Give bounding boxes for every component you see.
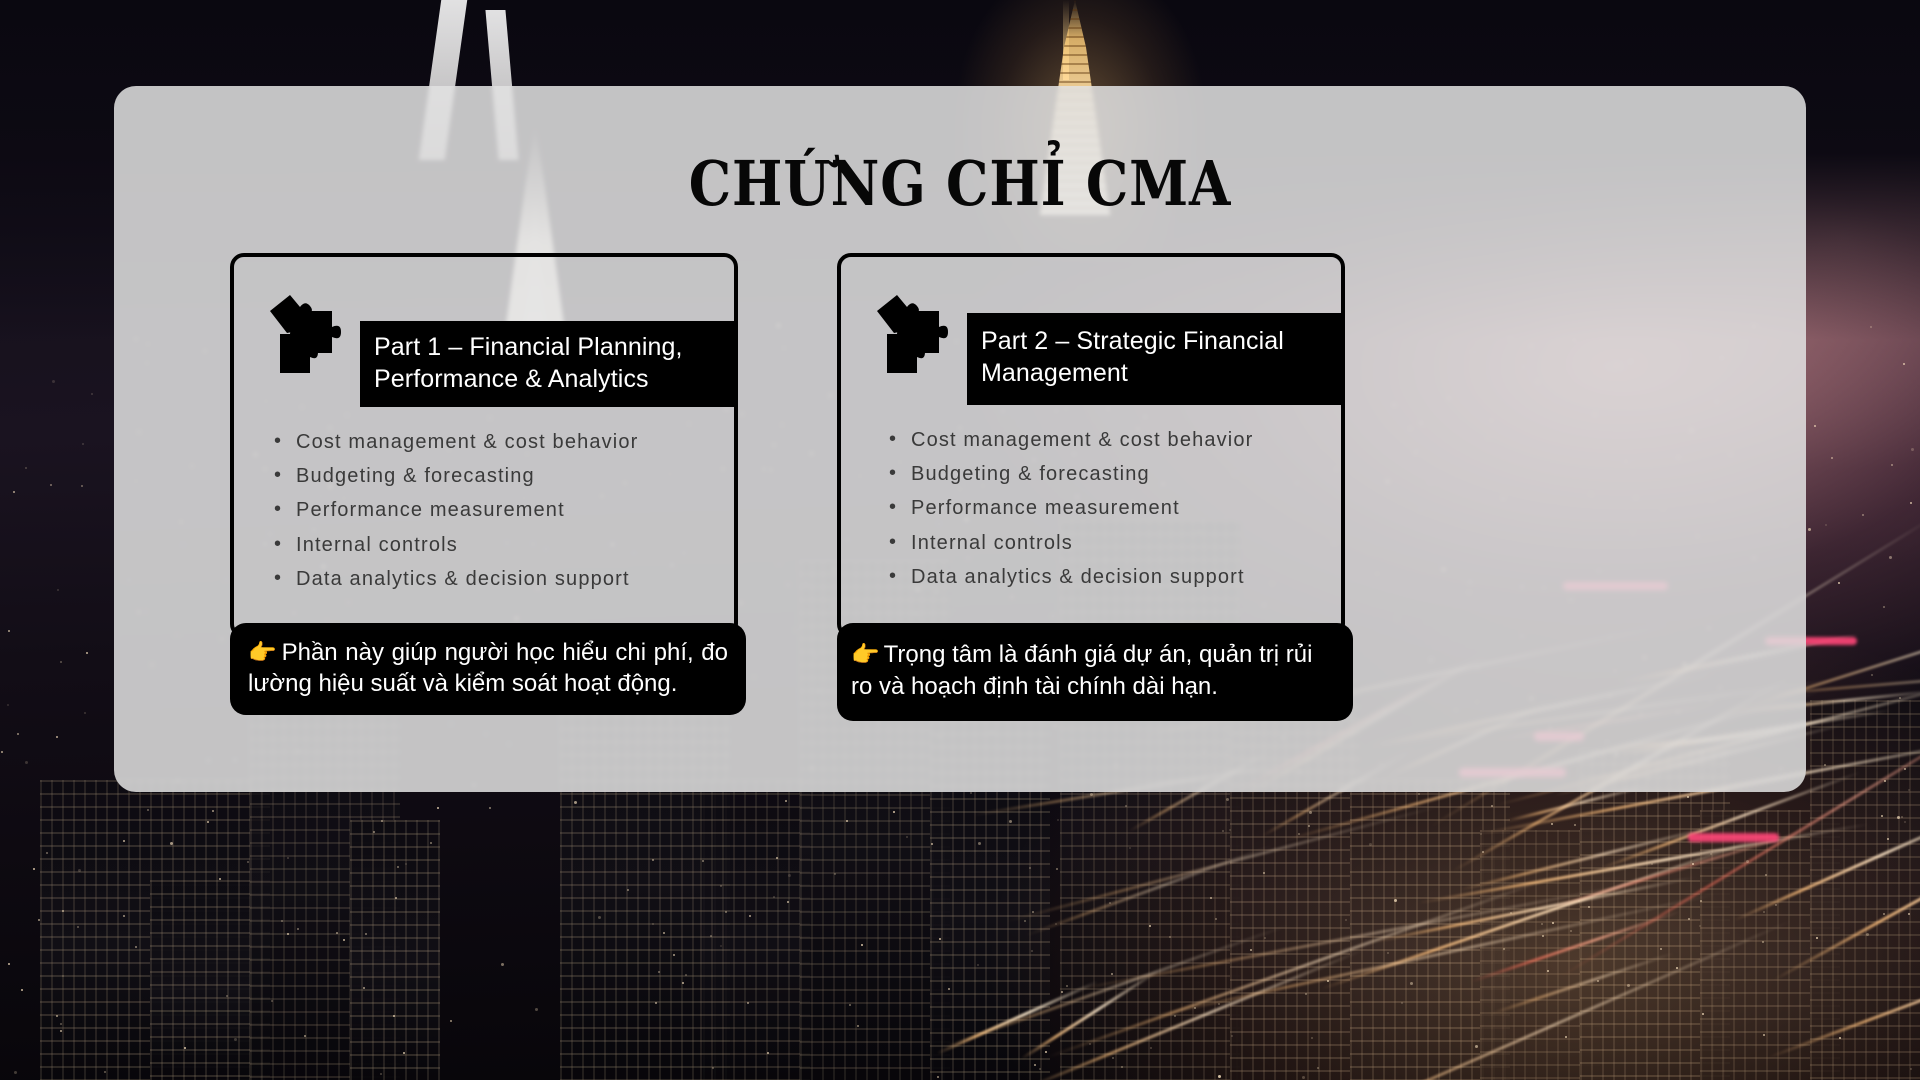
window-light <box>1121 1066 1123 1068</box>
list-item: Internal controls <box>268 532 734 559</box>
window-light <box>184 1047 186 1049</box>
window-light <box>8 630 10 632</box>
window-light <box>652 923 654 925</box>
window-light <box>123 915 125 917</box>
window-light <box>207 821 209 823</box>
window-light <box>1765 874 1767 876</box>
window-light <box>788 874 791 877</box>
window-light <box>1762 941 1764 943</box>
window-light <box>1578 900 1580 902</box>
card-2-header: Part 2 – Strategic Financial Management <box>841 257 1341 405</box>
window-light <box>1839 1037 1841 1039</box>
window-light <box>1903 363 1905 365</box>
window-light <box>1881 815 1883 817</box>
window-light <box>1676 967 1678 969</box>
window-light <box>1129 847 1131 849</box>
window-light <box>1627 984 1630 987</box>
window-light <box>1692 863 1694 865</box>
window-light <box>1317 1067 1319 1069</box>
window-light <box>1222 830 1224 832</box>
window-light <box>1 751 3 753</box>
window-light <box>1687 796 1689 798</box>
window-light <box>1660 948 1662 950</box>
window-light <box>747 1002 749 1004</box>
window-light <box>1552 922 1554 924</box>
window-light <box>1570 930 1572 932</box>
card-1-header: Part 1 – Financial Planning, Performance… <box>234 257 734 407</box>
window-light <box>403 1052 405 1054</box>
window-light <box>38 919 40 921</box>
list-item: Performance measurement <box>268 497 734 524</box>
card-2-heading: Part 2 – Strategic Financial Management <box>967 313 1341 405</box>
window-light <box>1866 933 1869 936</box>
window-light <box>1699 925 1701 927</box>
window-light <box>1824 764 1826 766</box>
window-light <box>14 1071 17 1074</box>
window-light <box>86 652 88 654</box>
window-light <box>849 1004 851 1006</box>
window-light <box>1263 872 1265 874</box>
window-light <box>1418 793 1420 795</box>
card-1-heading: Part 1 – Financial Planning, Performance… <box>360 321 734 407</box>
window-light <box>381 820 383 822</box>
window-light <box>56 736 58 738</box>
list-item: Data analytics & decision support <box>883 564 1341 591</box>
window-light <box>1862 514 1864 516</box>
window-light <box>1651 863 1653 865</box>
list-item: Budgeting & forecasting <box>268 463 734 490</box>
window-light <box>1871 674 1873 676</box>
window-light <box>234 1038 237 1041</box>
window-light <box>1897 816 1900 819</box>
window-light <box>52 380 55 383</box>
window-light <box>1302 1076 1305 1079</box>
window-light <box>785 800 787 802</box>
window-light <box>1816 937 1818 939</box>
window-light <box>1763 1034 1765 1036</box>
window-light <box>1410 982 1413 985</box>
list-item: Internal controls <box>883 530 1341 557</box>
window-light <box>1111 973 1113 975</box>
window-light <box>710 935 712 937</box>
window-light <box>397 866 399 868</box>
window-light <box>1090 793 1093 796</box>
window-light <box>91 393 93 395</box>
window-light <box>373 831 375 833</box>
window-light <box>1218 1075 1221 1078</box>
card-part-2[interactable]: Part 2 – Strategic Financial Management … <box>837 253 1345 638</box>
window-light <box>702 860 704 862</box>
window-light <box>1887 838 1889 840</box>
window-light <box>1250 949 1252 951</box>
window-light <box>82 443 84 445</box>
window-light <box>1174 1015 1176 1017</box>
window-light <box>1149 925 1151 927</box>
card-1-bullet-list: Cost management & cost behavior Budgetin… <box>268 429 734 593</box>
window-light <box>598 916 601 919</box>
window-light <box>287 857 289 859</box>
pointing-finger-icon: 👉 <box>248 639 278 665</box>
window-light <box>1710 853 1712 855</box>
window-light <box>81 485 83 487</box>
card-part-1[interactable]: Part 1 – Financial Planning, Performance… <box>230 253 738 638</box>
window-light <box>1345 919 1347 921</box>
window-light <box>776 857 778 859</box>
window-light <box>1503 948 1505 950</box>
window-light <box>663 932 665 934</box>
window-light <box>1109 902 1111 904</box>
window-light <box>1814 425 1816 427</box>
window-light <box>1369 843 1372 846</box>
window-light <box>7 704 9 706</box>
window-light <box>906 836 908 838</box>
card-2-caption-text: Trọng tâm là đánh giá dự án, quản trị rủ… <box>851 641 1312 700</box>
neon-sign <box>1688 833 1779 842</box>
window-light <box>627 889 629 891</box>
window-light <box>1588 906 1590 908</box>
window-light <box>1883 913 1885 915</box>
window-light <box>970 792 972 794</box>
window-light <box>1024 920 1026 922</box>
window-light <box>725 911 727 913</box>
window-light <box>1746 860 1749 863</box>
window-light <box>535 1008 538 1011</box>
window-light <box>712 1067 714 1069</box>
window-light <box>1870 326 1872 328</box>
window-light <box>1884 780 1886 782</box>
window-light <box>297 928 299 930</box>
window-light <box>1194 1007 1196 1009</box>
window-light <box>1702 1013 1704 1015</box>
window-light <box>787 901 789 903</box>
puzzle-piece-icon <box>871 289 953 375</box>
window-light <box>1491 805 1493 807</box>
window-light <box>1911 448 1914 451</box>
window-light <box>1883 606 1885 608</box>
window-light <box>978 842 981 845</box>
window-light <box>1089 1043 1091 1045</box>
window-light <box>1298 833 1300 835</box>
window-light <box>685 974 687 976</box>
window-light <box>1541 923 1543 925</box>
card-1-caption: 👉Phần này giúp người học hiểu chi phí, đ… <box>230 623 746 715</box>
window-light <box>395 897 397 899</box>
window-light <box>720 885 722 887</box>
window-light <box>1066 985 1068 987</box>
window-light <box>25 467 27 469</box>
window-light <box>304 1035 306 1037</box>
window-light <box>1889 556 1892 559</box>
window-light <box>1838 582 1840 584</box>
card-1-caption-text: Phần này giúp người học hiểu chi phí, đo… <box>248 639 728 697</box>
window-light <box>437 807 439 809</box>
window-light <box>931 843 933 845</box>
window-light <box>60 1023 62 1025</box>
window-light <box>1574 824 1576 826</box>
window-light <box>1904 768 1906 770</box>
window-light <box>147 809 149 811</box>
window-light <box>1226 798 1229 801</box>
window-light <box>1061 991 1063 993</box>
list-item: Budgeting & forecasting <box>883 461 1341 488</box>
window-light <box>226 995 228 997</box>
window-light <box>767 1052 769 1054</box>
window-light <box>1387 952 1389 954</box>
window-light <box>1327 980 1329 982</box>
page-title: CHỨNG CHỈ CMA <box>232 153 1687 215</box>
window-light <box>1229 829 1231 831</box>
window-light <box>17 733 19 735</box>
window-light <box>1009 820 1012 823</box>
window-light <box>33 868 35 870</box>
window-light <box>857 1025 859 1027</box>
window-light <box>135 946 137 948</box>
list-item: Cost management & cost behavior <box>883 427 1341 454</box>
window-light <box>281 920 283 922</box>
window-light <box>1910 502 1912 504</box>
window-light <box>1305 993 1307 995</box>
window-light <box>1311 1037 1313 1039</box>
window-light <box>1775 904 1777 906</box>
window-light <box>1034 1064 1036 1066</box>
list-item: Performance measurement <box>883 495 1341 522</box>
window-light <box>363 987 365 989</box>
window-light <box>489 807 491 809</box>
window-light <box>123 840 125 842</box>
window-light <box>1551 823 1553 825</box>
window-light <box>1218 1003 1220 1005</box>
window-light <box>60 661 62 663</box>
window-light <box>1763 911 1765 913</box>
window-light <box>1908 913 1910 915</box>
window-light <box>1808 528 1811 531</box>
window-light <box>1688 918 1690 920</box>
window-light <box>1901 816 1903 818</box>
window-light <box>1057 819 1059 821</box>
window-light <box>749 915 751 917</box>
window-light <box>62 910 64 912</box>
window-light <box>948 988 950 990</box>
window-light <box>1039 1068 1041 1070</box>
puzzle-piece-icon <box>264 289 346 375</box>
window-light <box>1215 918 1217 920</box>
window-light <box>1031 950 1033 952</box>
window-light <box>1029 867 1031 869</box>
cards-container: Part 1 – Financial Planning, Performance… <box>230 253 1690 738</box>
window-light <box>170 842 173 845</box>
card-2-caption: 👉Trọng tâm là đánh giá dự án, quản trị r… <box>837 623 1353 721</box>
window-light <box>62 975 64 977</box>
window-light <box>846 820 848 822</box>
window-light <box>1394 899 1397 902</box>
window-light <box>343 939 345 941</box>
window-light <box>1308 825 1310 827</box>
window-light <box>430 842 432 844</box>
window-light <box>287 933 289 935</box>
window-light <box>46 852 48 854</box>
window-light <box>450 1020 452 1022</box>
pointing-finger-icon: 👉 <box>851 641 880 667</box>
window-light <box>1309 811 1312 814</box>
window-light <box>1899 697 1901 699</box>
window-light <box>365 933 367 935</box>
window-light <box>773 896 775 898</box>
window-light <box>25 761 28 764</box>
window-light <box>1480 833 1482 835</box>
window-light <box>393 1015 395 1017</box>
window-light <box>1210 897 1212 899</box>
window-light <box>1547 970 1549 972</box>
window-light <box>1056 868 1058 870</box>
window-light <box>574 801 577 804</box>
window-light <box>1032 911 1034 913</box>
window-light <box>21 989 23 991</box>
window-light <box>1825 524 1827 526</box>
window-light <box>658 971 660 973</box>
window-light <box>1831 457 1833 459</box>
window-light <box>57 589 59 591</box>
list-item: Data analytics & decision support <box>268 566 734 593</box>
window-light <box>50 484 52 486</box>
window-light <box>893 811 895 813</box>
window-light <box>1475 1045 1478 1048</box>
window-light <box>1125 805 1127 807</box>
window-light <box>834 873 836 875</box>
window-light <box>1910 1068 1912 1070</box>
list-item: Cost management & cost behavior <box>268 429 734 456</box>
window-light <box>13 491 15 493</box>
window-light <box>1700 900 1702 902</box>
window-light <box>652 859 654 861</box>
window-light <box>1112 1057 1114 1059</box>
window-light <box>1045 1051 1047 1053</box>
window-light <box>682 982 684 984</box>
window-light <box>60 1030 62 1032</box>
window-light <box>219 878 221 880</box>
window-light <box>1510 912 1512 914</box>
window-light <box>977 964 979 966</box>
window-light <box>1231 1035 1233 1037</box>
window-light <box>380 1073 382 1075</box>
window-light <box>405 863 407 865</box>
window-light <box>78 869 81 872</box>
window-light <box>655 1002 657 1004</box>
window-light <box>1482 851 1484 853</box>
window-light <box>1542 935 1544 937</box>
window-light <box>1597 980 1599 982</box>
window-light <box>1908 789 1910 791</box>
window-light <box>77 926 79 928</box>
window-light <box>1401 1002 1403 1004</box>
window-light <box>56 1015 58 1017</box>
window-light <box>939 938 941 940</box>
window-light <box>673 954 675 956</box>
window-light <box>1150 1047 1152 1049</box>
window-light <box>937 1076 939 1078</box>
window-light <box>84 712 86 714</box>
window-light <box>501 963 504 966</box>
window-light <box>1565 1036 1567 1038</box>
window-light <box>1891 464 1893 466</box>
window-light <box>336 932 338 934</box>
content-panel: CHỨNG CHỈ CMA Part 1 – Financial Plannin… <box>114 86 1806 792</box>
window-light <box>271 1000 273 1002</box>
window-light <box>1055 923 1057 925</box>
window-light <box>720 945 722 947</box>
window-light <box>1169 936 1171 938</box>
window-light <box>861 944 863 946</box>
card-2-bullet-list: Cost management & cost behavior Budgetin… <box>883 427 1341 591</box>
window-light <box>212 810 214 812</box>
window-light <box>247 861 249 863</box>
window-light <box>1904 821 1906 823</box>
window-light <box>1264 937 1266 939</box>
window-light <box>104 1071 106 1073</box>
window-light <box>8 963 10 965</box>
